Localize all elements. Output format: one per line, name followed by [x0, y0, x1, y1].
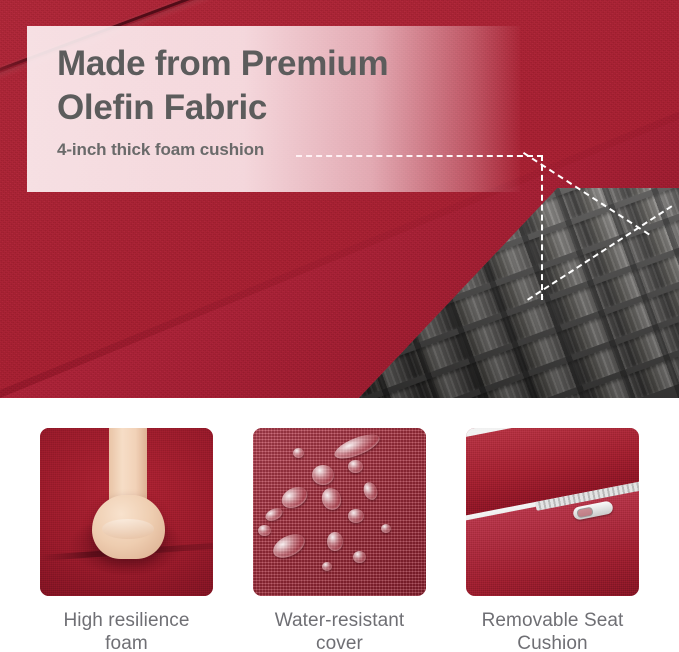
feature-caption-removable-cushion: Removable Seat Cushion — [482, 609, 624, 652]
features-section: High resilience foam — [0, 398, 679, 652]
knuckle-highlight — [102, 519, 154, 539]
water-droplet — [312, 465, 334, 485]
feature-caption-foam-line-1: High resilience — [63, 609, 189, 632]
subheadline: 4-inch thick foam cushion — [57, 139, 510, 161]
feature-thumbnail-zipper — [466, 428, 639, 596]
feature-card-high-resilience-foam: High resilience foam — [40, 428, 213, 652]
feature-caption-water-resistant: Water-resistant cover — [275, 609, 405, 652]
zipper-fabric-texture — [466, 428, 639, 596]
feature-caption-foam-line-2: foam — [63, 632, 189, 652]
feature-thumbnail-foam — [40, 428, 213, 596]
feature-caption-cushion-line-2: Cushion — [482, 632, 624, 652]
water-droplet — [348, 509, 364, 523]
feature-card-water-resistant-cover: Water-resistant cover — [253, 428, 426, 652]
feature-card-removable-seat-cushion: Removable Seat Cushion — [466, 428, 639, 652]
feature-card-list: High resilience foam — [0, 398, 679, 652]
feature-caption-cushion-line-1: Removable Seat — [482, 609, 624, 632]
headline-line-1: Made from Premium — [57, 42, 510, 86]
water-droplet — [293, 448, 304, 458]
water-droplet — [353, 551, 366, 563]
water-droplet — [381, 524, 391, 533]
headline-panel: Made from Premium Olefin Fabric 4-inch t… — [27, 26, 520, 192]
product-feature-image: Made from Premium Olefin Fabric 4-inch t… — [0, 0, 679, 652]
headline-panel-content: Made from Premium Olefin Fabric 4-inch t… — [57, 42, 510, 161]
headline-line-2: Olefin Fabric — [57, 86, 510, 130]
feature-caption-water-line-2: cover — [275, 632, 405, 652]
feature-thumbnail-water-resistant — [253, 428, 426, 596]
hero-section: Made from Premium Olefin Fabric 4-inch t… — [0, 0, 679, 398]
water-droplet — [348, 460, 363, 473]
feature-caption-foam: High resilience foam — [63, 609, 189, 652]
feature-caption-water-line-1: Water-resistant — [275, 609, 405, 632]
callout-thickness-measure-line — [541, 155, 543, 300]
